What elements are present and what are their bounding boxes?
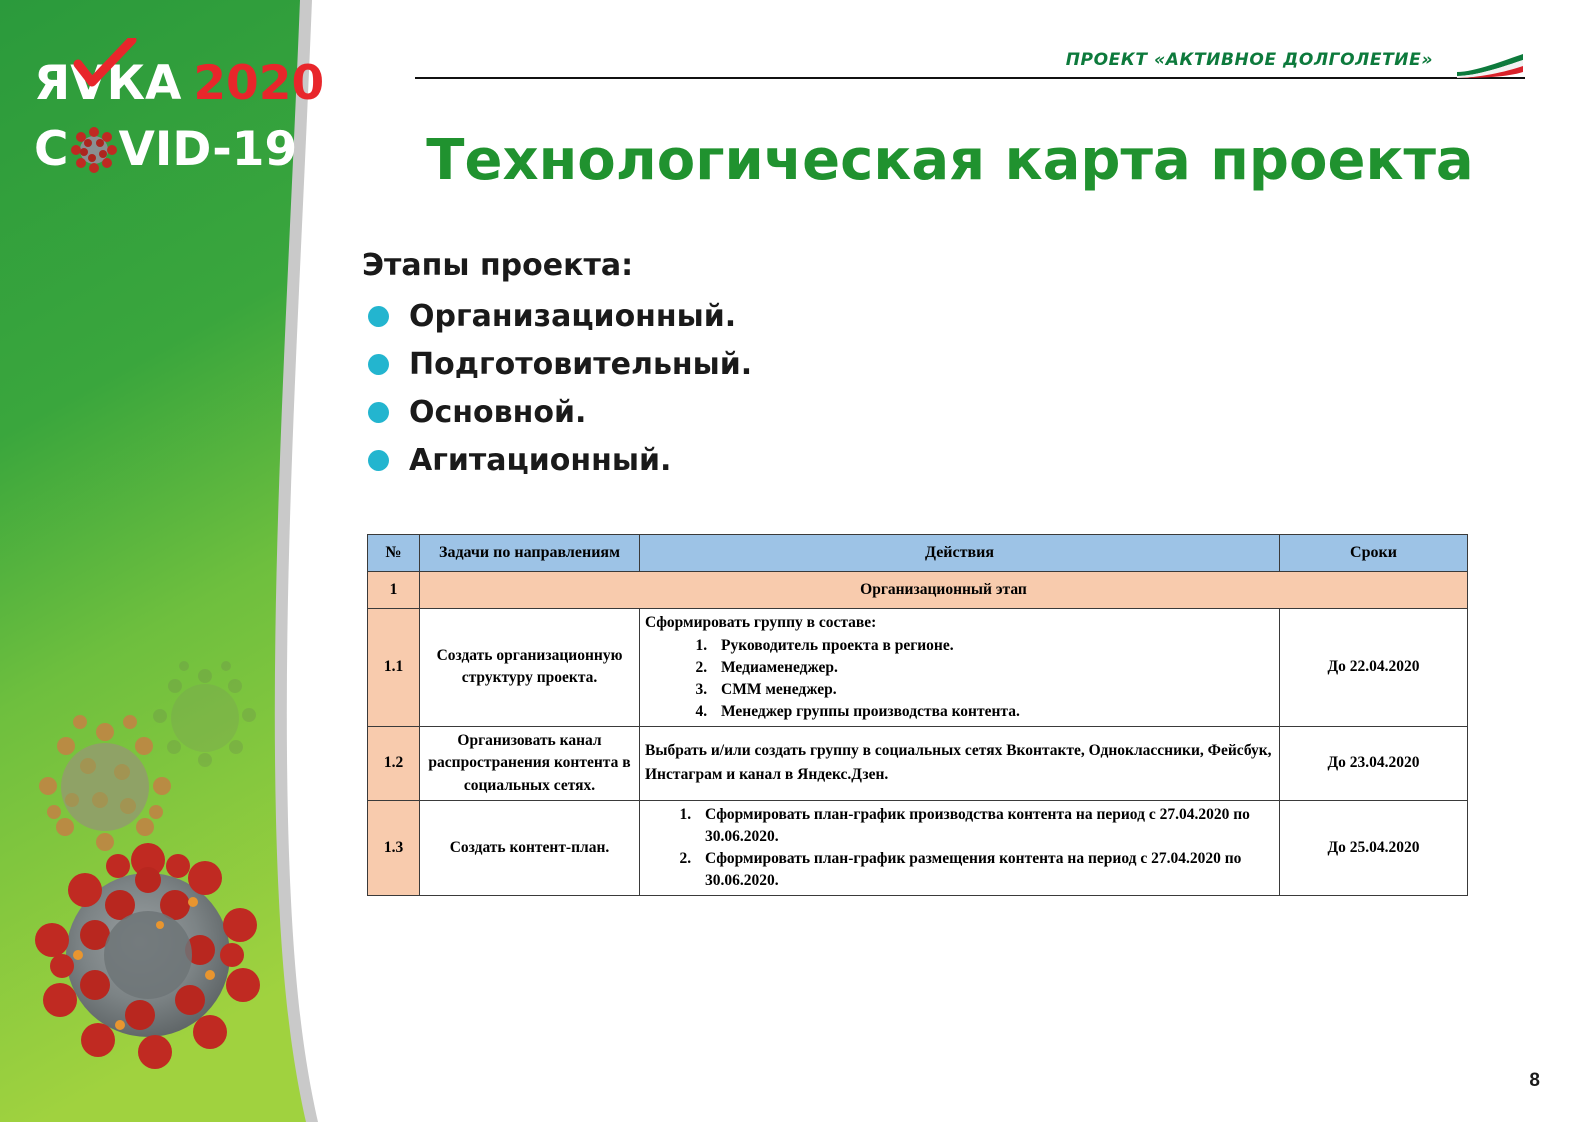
- row-number: 1.3: [368, 801, 420, 896]
- logo-line-2: C VID-19: [34, 126, 297, 174]
- row-task: Создать контент-план.: [420, 801, 640, 896]
- project-header-title: ПРОЕКТ «АКТИВНОЕ ДОЛГОЛЕТИЕ»: [1066, 50, 1433, 70]
- table-row: 1.1 Создать организационную структуру пр…: [368, 609, 1468, 727]
- action-list-item: СММ менеджер.: [711, 679, 1274, 701]
- coronavirus-icon: [70, 126, 118, 174]
- technology-map-table: № Задачи по направлениям Действия Сроки …: [367, 534, 1468, 896]
- section-title: Организационный этап: [420, 572, 1468, 609]
- column-header-terms: Сроки: [1280, 535, 1468, 572]
- section-number: 1: [368, 572, 420, 609]
- list-item: Основной.: [362, 393, 1062, 431]
- row-action: Сформировать группу в составе: Руководит…: [640, 609, 1280, 727]
- action-intro: Сформировать группу в составе:: [645, 612, 1274, 634]
- project-stages-block: Этапы проекта: Организационный. Подготов…: [362, 248, 1062, 489]
- action-list-item: Сформировать план-график производства ко…: [695, 804, 1274, 848]
- yavka-covid-logo: ЯVКА2020 C VID-19: [34, 60, 274, 200]
- tricolor-ribbon-icon: [1455, 52, 1525, 78]
- row-term: До 25.04.2020: [1280, 801, 1468, 896]
- bullet-icon: [368, 354, 389, 375]
- slide-header: ПРОЕКТ «АКТИВНОЕ ДОЛГОЛЕТИЕ»: [415, 48, 1525, 88]
- list-item: Организационный.: [362, 297, 1062, 335]
- column-header-tasks: Задачи по направлениям: [420, 535, 640, 572]
- row-task: Создать организационную структуру проект…: [420, 609, 640, 727]
- stage-label: Подготовительный.: [409, 347, 752, 382]
- row-term: До 22.04.2020: [1280, 609, 1468, 727]
- bullet-icon: [368, 450, 389, 471]
- stage-label: Агитационный.: [409, 443, 671, 478]
- action-list: Сформировать план-график производства ко…: [645, 804, 1274, 892]
- column-header-number: №: [368, 535, 420, 572]
- row-number: 1.1: [368, 609, 420, 727]
- left-decorative-panel: ЯVКА2020 C VID-19: [0, 0, 330, 1122]
- logo-covid-suffix: VID-19: [119, 122, 298, 177]
- action-list: Руководитель проекта в регионе. Медиамен…: [645, 635, 1274, 723]
- page-title: Технологическая карта проекта: [380, 128, 1520, 193]
- bullet-icon: [368, 402, 389, 423]
- table-row: 1.2 Организовать канал распространения к…: [368, 726, 1468, 800]
- logo-year-text: 2020: [193, 56, 324, 111]
- row-action: Выбрать и/или создать группу в социальны…: [640, 726, 1280, 800]
- list-item: Подготовительный.: [362, 345, 1062, 383]
- column-header-actions: Действия: [640, 535, 1280, 572]
- row-number: 1.2: [368, 726, 420, 800]
- stage-label: Организационный.: [409, 299, 736, 334]
- page-number: 8: [1529, 1070, 1540, 1092]
- action-list-item: Сформировать план-график размещения конт…: [695, 848, 1274, 892]
- row-action: Сформировать план-график производства ко…: [640, 801, 1280, 896]
- stages-heading: Этапы проекта:: [362, 248, 1062, 283]
- logo-covid-prefix: C: [34, 122, 69, 177]
- action-list-item: Руководитель проекта в регионе.: [711, 635, 1274, 657]
- stage-label: Основной.: [409, 395, 586, 430]
- header-divider: [415, 77, 1525, 79]
- table-section-row: 1 Организационный этап: [368, 572, 1468, 609]
- table-header-row: № Задачи по направлениям Действия Сроки: [368, 535, 1468, 572]
- action-list-item: Медиаменеджер.: [711, 657, 1274, 679]
- list-item: Агитационный.: [362, 441, 1062, 479]
- bullet-icon: [368, 306, 389, 327]
- logo-yavka-text: ЯVКА: [34, 56, 181, 111]
- action-list-item: Менеджер группы производства контента.: [711, 701, 1274, 723]
- row-task: Организовать канал распространения конте…: [420, 726, 640, 800]
- row-term: До 23.04.2020: [1280, 726, 1468, 800]
- action-text: Выбрать и/или создать группу в социальны…: [645, 739, 1274, 787]
- table-row: 1.3 Создать контент-план. Сформировать п…: [368, 801, 1468, 896]
- logo-line-1: ЯVКА2020: [34, 60, 324, 107]
